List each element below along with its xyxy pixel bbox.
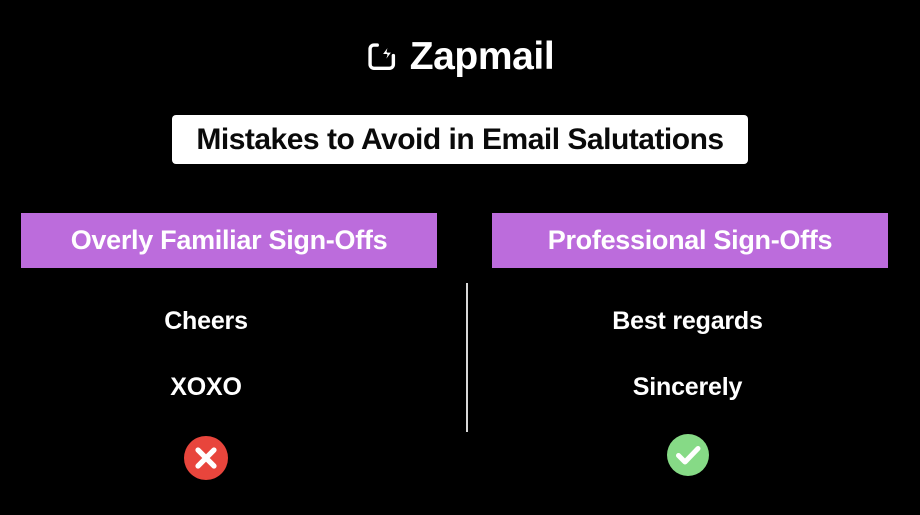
title-plate: Mistakes to Avoid in Email Salutations (172, 115, 748, 164)
list-item: XOXO (0, 354, 437, 420)
column-overly-familiar: Overly Familiar Sign-Offs Cheers XOXO (21, 213, 437, 487)
verdict-row-negative (0, 429, 437, 487)
column-header-professional: Professional Sign-Offs (492, 213, 888, 268)
column-header-label: Professional Sign-Offs (548, 227, 832, 254)
list-item-label: XOXO (170, 375, 241, 400)
list-item-label: Cheers (164, 309, 248, 334)
column-professional: Professional Sign-Offs Best regards Sinc… (492, 213, 888, 484)
zapmail-bolt-icon (366, 38, 399, 74)
list-item-label: Best regards (612, 309, 762, 334)
column-header-label: Overly Familiar Sign-Offs (71, 227, 388, 254)
infographic-canvas: Zapmail Mistakes to Avoid in Email Salut… (0, 0, 920, 515)
column-header-overly-familiar: Overly Familiar Sign-Offs (21, 213, 437, 268)
column-divider (466, 283, 468, 432)
column-items-overly-familiar: Cheers XOXO (0, 268, 437, 420)
cross-icon (184, 436, 228, 480)
column-items-professional: Best regards Sincerely (487, 268, 888, 420)
list-item: Cheers (0, 288, 437, 354)
verdict-row-positive (487, 426, 888, 484)
list-item: Best regards (487, 288, 888, 354)
brand-name: Zapmail (410, 37, 555, 76)
brand-lockup: Zapmail (0, 27, 920, 85)
page-title: Mistakes to Avoid in Email Salutations (196, 125, 723, 155)
check-icon (667, 434, 709, 476)
list-item: Sincerely (487, 354, 888, 420)
list-item-label: Sincerely (633, 375, 742, 400)
